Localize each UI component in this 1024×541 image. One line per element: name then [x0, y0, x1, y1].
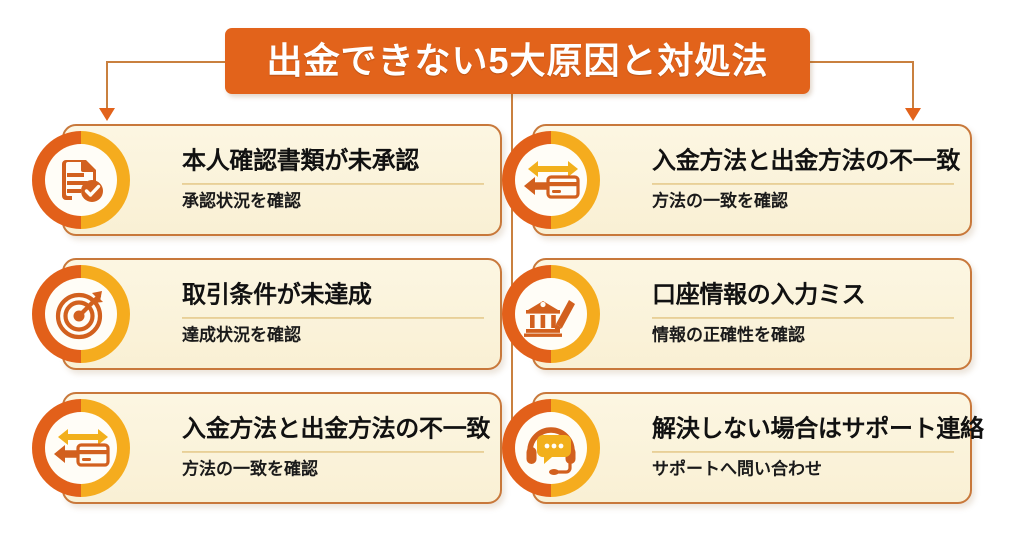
- card-title: 取引条件が未達成: [182, 282, 484, 308]
- card-subtitle: 方法の一致を確認: [182, 461, 484, 480]
- connector-left-vertical: [106, 61, 108, 113]
- card-subtitle: 達成状況を確認: [182, 327, 484, 346]
- page-title-banner: 出金できない5大原因と対処法: [225, 28, 810, 94]
- card-divider: [652, 452, 954, 453]
- card-text-block: 解決しない場合はサポート連絡 サポートへ問い合わせ: [652, 416, 954, 479]
- card-divider: [182, 184, 484, 185]
- card-subtitle: 情報の正確性を確認: [652, 327, 954, 346]
- card-text-block: 入金方法と出金方法の不一致 方法の一致を確認: [652, 148, 954, 211]
- connector-center-spine: [511, 92, 513, 449]
- arrow-left-branch: [99, 108, 115, 121]
- card-text-block: 本人確認書類が未承認 承認状況を確認: [182, 148, 484, 211]
- card-text-block: 入金方法と出金方法の不一致 方法の一致を確認: [182, 416, 484, 479]
- card-title: 入金方法と出金方法の不一致: [652, 148, 954, 174]
- card-divider: [182, 318, 484, 319]
- page-title: 出金できない5大原因と対処法: [266, 43, 768, 79]
- card-divider: [182, 452, 484, 453]
- headset-support-icon: [502, 399, 600, 497]
- cause-card[interactable]: 本人確認書類が未承認 承認状況を確認: [62, 124, 502, 236]
- cause-card[interactable]: 口座情報の入力ミス 情報の正確性を確認: [532, 258, 972, 370]
- bank-pen-icon: [502, 265, 600, 363]
- card-subtitle: サポートへ問い合わせ: [652, 461, 954, 480]
- card-title: 本人確認書類が未承認: [182, 148, 484, 174]
- card-divider: [652, 184, 954, 185]
- connector-left-horizontal: [107, 61, 229, 63]
- transfer-card-icon: [32, 399, 130, 497]
- card-title: 口座情報の入力ミス: [652, 282, 954, 308]
- cause-card[interactable]: 入金方法と出金方法の不一致 方法の一致を確認: [532, 124, 972, 236]
- cause-card[interactable]: 入金方法と出金方法の不一致 方法の一致を確認: [62, 392, 502, 504]
- card-title: 入金方法と出金方法の不一致: [182, 416, 484, 442]
- card-subtitle: 承認状況を確認: [182, 193, 484, 212]
- card-divider: [652, 318, 954, 319]
- card-text-block: 取引条件が未達成 達成状況を確認: [182, 282, 484, 345]
- document-check-icon: [32, 131, 130, 229]
- connector-right-horizontal: [806, 61, 914, 63]
- arrow-right-branch: [905, 108, 921, 121]
- cause-card[interactable]: 解決しない場合はサポート連絡 サポートへ問い合わせ: [532, 392, 972, 504]
- infographic-canvas: 出金できない5大原因と対処法 本人確認書類が未承認 承認状況を確認: [0, 0, 1024, 541]
- cause-card[interactable]: 取引条件が未達成 達成状況を確認: [62, 258, 502, 370]
- transfer-card-icon: [502, 131, 600, 229]
- card-title: 解決しない場合はサポート連絡: [652, 416, 954, 442]
- card-subtitle: 方法の一致を確認: [652, 193, 954, 212]
- connector-right-vertical: [912, 61, 914, 113]
- target-arrow-icon: [32, 265, 130, 363]
- card-text-block: 口座情報の入力ミス 情報の正確性を確認: [652, 282, 954, 345]
